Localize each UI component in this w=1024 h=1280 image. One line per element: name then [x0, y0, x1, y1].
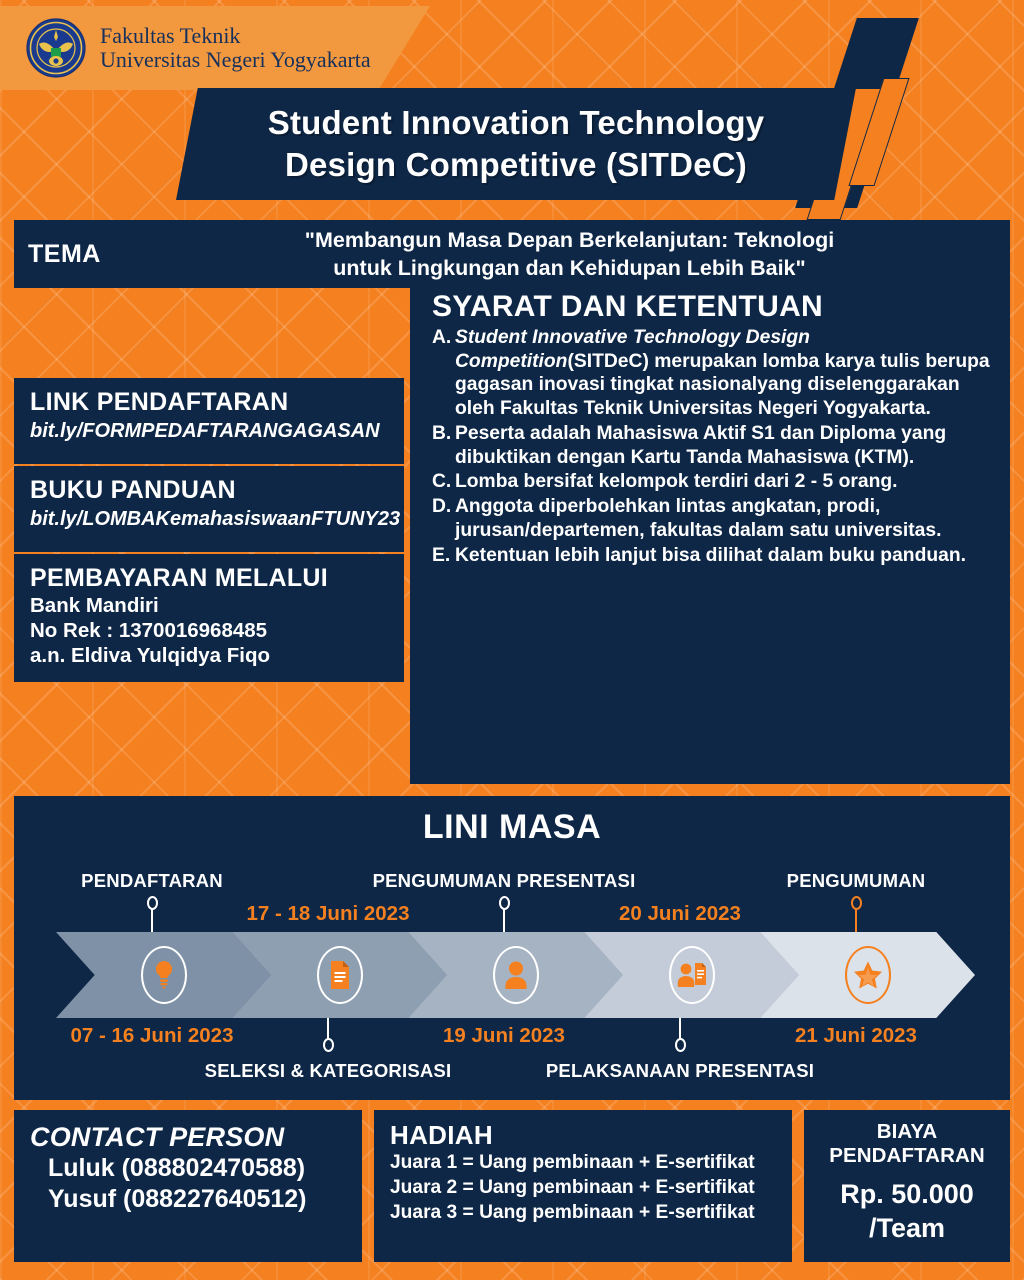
hadiah-list: Juara 1 = Uang pembinaan + E-sertifikatJ…	[390, 1151, 776, 1226]
syarat-item-marker: A.	[432, 326, 455, 421]
timeline-connector-dot	[675, 1038, 686, 1052]
hadiah-title: HADIAH	[390, 1120, 776, 1151]
biaya-unit: /Team	[814, 1212, 1000, 1246]
poster-title-banner: Student Innovation Technology Design Com…	[176, 88, 856, 200]
poster-title-line-1: Student Innovation Technology	[268, 102, 765, 144]
biaya-pendaftaran-box: BIAYA PENDAFTARAN Rp. 50.000 /Team	[804, 1110, 1010, 1262]
contact-person-entry: Luluk (088802470588)	[30, 1153, 346, 1184]
timeline-step-date: 17 - 18 Juni 2023	[247, 902, 410, 926]
uny-seal-icon	[26, 18, 86, 78]
hadiah-box: HADIAH Juara 1 = Uang pembinaan + E-sert…	[374, 1110, 792, 1262]
biaya-title: BIAYA PENDAFTARAN	[814, 1120, 1000, 1168]
hadiah-prize-entry: Juara 2 = Uang pembinaan + E-sertifikat	[390, 1176, 776, 1201]
syarat-item-text: Peserta adalah Mahasiswa Aktif S1 dan Di…	[455, 422, 996, 469]
people-document-icon	[677, 961, 707, 989]
syarat-ketentuan-section: SYARAT DAN KETENTUAN A.Student Innovativ…	[410, 282, 1010, 784]
tema-line-2: untuk Lingkungan dan Kehidupan Lebih Bai…	[189, 254, 950, 282]
timeline-step-date: 07 - 16 Juni 2023	[71, 1024, 234, 1048]
timeline-connector-dot	[851, 896, 862, 910]
pembayaran-title: PEMBAYARAN MELALUI	[30, 564, 388, 593]
syarat-item: D.Anggota diperbolehkan lintas angkatan,…	[432, 495, 996, 542]
syarat-item: B.Peserta adalah Mahasiswa Aktif S1 dan …	[432, 422, 996, 469]
lini-masa-section: LINI MASA PENDAFTARAN07 - 16 Juni 2023SE…	[14, 796, 1010, 1100]
tema-label: TEMA	[14, 240, 189, 269]
poster-page: Fakultas Teknik Universitas Negeri Yogya…	[0, 0, 1024, 1280]
pembayaran-atas-nama: a.n. Eldiva Yulqidya Fiqo	[30, 643, 388, 668]
biaya-amount: Rp. 50.000	[814, 1178, 1000, 1212]
faculty-line-2: Universitas Negeri Yogyakarta	[100, 48, 371, 72]
syarat-item-emphasis: Student Innovative Technology Design Com…	[455, 327, 810, 372]
tema-section: TEMA "Membangun Masa Depan Berkelanjutan…	[14, 220, 1010, 288]
timeline-step-label: PELAKSANAAN PRESENTASI	[546, 1060, 814, 1082]
hadiah-prize-entry: Juara 3 = Uang pembinaan + E-sertifikat	[390, 1201, 776, 1226]
timeline-chevron-row	[56, 932, 974, 1018]
timeline-step-icon-circle	[317, 946, 363, 1004]
lini-masa-heading: LINI MASA	[14, 796, 1010, 847]
timeline-step-date: 20 Juni 2023	[619, 902, 741, 926]
timeline-connector-dot	[323, 1038, 334, 1052]
pembayaran-box: PEMBAYARAN MELALUI Bank Mandiri No Rek :…	[14, 554, 404, 682]
timeline-step-icon-circle	[845, 946, 891, 1004]
faculty-name: Fakultas Teknik Universitas Negeri Yogya…	[100, 24, 371, 72]
person-icon	[503, 960, 529, 990]
timeline-connector-dot	[499, 896, 510, 910]
link-pendaftaran-url[interactable]: bit.ly/FORMPEDAFTARANGAGASAN	[30, 420, 388, 443]
timeline-step-date: 21 Juni 2023	[795, 1024, 917, 1048]
poster-title-line-2: Design Competitive (SITDeC)	[285, 144, 747, 186]
contact-person-list: Luluk (088802470588)Yusuf (088227640512)	[30, 1153, 346, 1215]
timeline-step-icon-circle	[493, 946, 539, 1004]
syarat-item-text: Ketentuan lebih lanjut bisa dilihat dala…	[455, 544, 996, 568]
buku-panduan-title: BUKU PANDUAN	[30, 476, 388, 505]
buku-panduan-box[interactable]: BUKU PANDUAN bit.ly/LOMBAKemahasiswaanFT…	[14, 466, 404, 552]
syarat-item-text: Lomba bersifat kelompok terdiri dari 2 -…	[455, 470, 996, 494]
syarat-item: A.Student Innovative Technology Design C…	[432, 326, 996, 421]
tema-text: "Membangun Masa Depan Berkelanjutan: Tek…	[189, 226, 1010, 283]
lightbulb-icon	[153, 960, 175, 990]
syarat-item-marker: E.	[432, 544, 455, 568]
contact-person-entry: Yusuf (088227640512)	[30, 1184, 346, 1215]
institution-header: Fakultas Teknik Universitas Negeri Yogya…	[0, 6, 430, 90]
timeline-step-icon-circle	[669, 946, 715, 1004]
timeline-step-label: PENGUMUMAN	[787, 870, 926, 892]
syarat-item: E.Ketentuan lebih lanjut bisa dilihat da…	[432, 544, 996, 568]
syarat-item: C.Lomba bersifat kelompok terdiri dari 2…	[432, 470, 996, 494]
timeline-connector-dot	[147, 896, 158, 910]
timeline-step-label: PENDAFTARAN	[81, 870, 223, 892]
contact-person-title: CONTACT PERSON	[30, 1122, 346, 1153]
pembayaran-rekening: No Rek : 1370016968485	[30, 618, 388, 643]
link-pendaftaran-title: LINK PENDAFTARAN	[30, 388, 388, 417]
timeline-chevron	[56, 932, 271, 1018]
syarat-list: A.Student Innovative Technology Design C…	[432, 326, 996, 567]
tema-line-1: "Membangun Masa Depan Berkelanjutan: Tek…	[189, 226, 950, 254]
timeline-step-icon-circle	[141, 946, 187, 1004]
syarat-item-text: Anggota diperbolehkan lintas angkatan, p…	[455, 495, 996, 542]
syarat-item-marker: C.	[432, 470, 455, 494]
star-award-icon	[853, 960, 883, 990]
link-pendaftaran-box[interactable]: LINK PENDAFTARAN bit.ly/FORMPEDAFTARANGA…	[14, 378, 404, 464]
contact-person-box: CONTACT PERSON Luluk (088802470588)Yusuf…	[14, 1110, 362, 1262]
timeline-step-date: 19 Juni 2023	[443, 1024, 565, 1048]
faculty-line-1: Fakultas Teknik	[100, 24, 371, 48]
pembayaran-bank: Bank Mandiri	[30, 593, 388, 618]
syarat-item-marker: B.	[432, 422, 455, 469]
buku-panduan-url[interactable]: bit.ly/LOMBAKemahasiswaanFTUNY23	[30, 508, 388, 531]
hadiah-prize-entry: Juara 1 = Uang pembinaan + E-sertifikat	[390, 1151, 776, 1176]
syarat-item-text: Student Innovative Technology Design Com…	[455, 326, 996, 421]
timeline-step-label: PENGUMUMAN PRESENTASI	[373, 870, 636, 892]
syarat-heading: SYARAT DAN KETENTUAN	[432, 290, 996, 324]
document-icon	[328, 960, 352, 990]
timeline-step-label: SELEKSI & KATEGORISASI	[205, 1060, 452, 1082]
syarat-item-marker: D.	[432, 495, 455, 542]
